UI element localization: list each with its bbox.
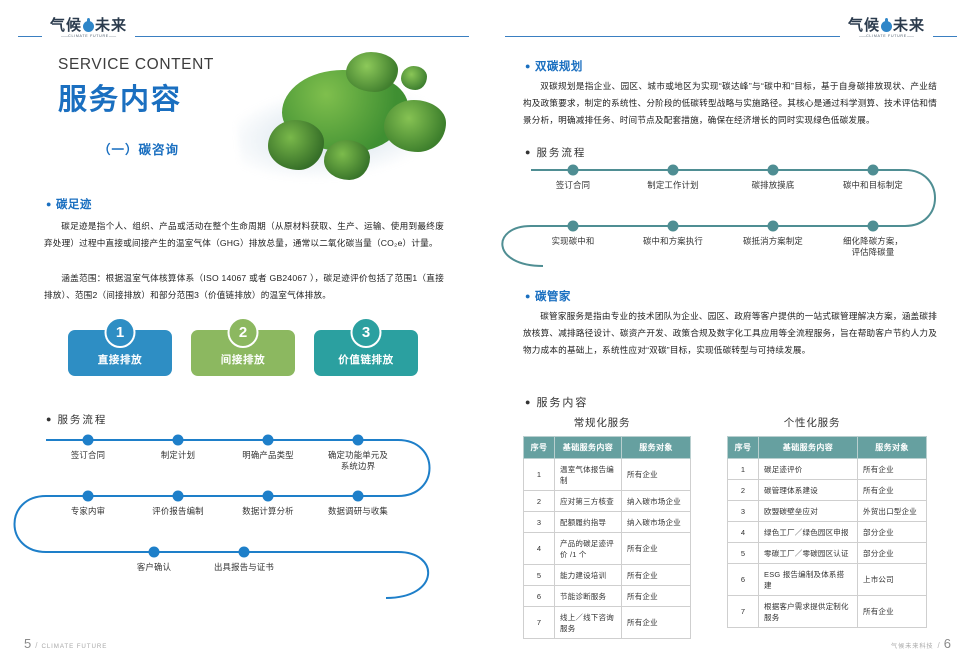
flow-step-label: 签订合同 — [528, 180, 618, 191]
table-cell-index: 2 — [524, 491, 555, 512]
paragraph-carbon-steward: 碳管家服务是指由专业的技术团队为企业、园区、政府等客户提供的一站式碳管理解决方案… — [523, 308, 937, 358]
table-cell-service: 节能诊断服务 — [555, 586, 622, 607]
scope-label: 价值链排放 — [338, 352, 394, 367]
brand-logo-right: 气候 未来 CLIMATE FUTURE — [840, 18, 933, 38]
table-cell-target: 外贸出口型企业 — [858, 501, 927, 522]
table-cell-target: 所有企业 — [622, 459, 691, 491]
flow-step-label: 客户确认 — [109, 562, 199, 573]
table-cell-index: 1 — [524, 459, 555, 491]
scope-box: 3 价值链排放 — [314, 330, 418, 376]
table-cell-target: 上市公司 — [858, 564, 927, 596]
table-row: 6节能诊断服务所有企业 — [524, 586, 691, 607]
flow-node — [173, 491, 184, 502]
table-cell-target: 所有企业 — [622, 607, 691, 639]
scope-number: 3 — [351, 317, 382, 348]
scope-number: 1 — [105, 317, 136, 348]
table-cell-index: 3 — [524, 512, 555, 533]
flow-step-label: 确定功能单元及 系统边界 — [313, 450, 403, 473]
flow-node — [353, 435, 364, 446]
flow-node — [263, 491, 274, 502]
footer-label: 气候未来科技 — [891, 641, 934, 650]
table-custom-service: 序号基础服务内容服务对象1碳足迹评价所有企业2碳管理体系建设所有企业3欧盟碳壁垒… — [727, 436, 927, 628]
table-row: 2碳管理体系建设所有企业 — [728, 480, 927, 501]
table-column-header: 基础服务内容 — [555, 437, 622, 459]
table-row: 5零碳工厂／零碳园区认证部分企业 — [728, 543, 927, 564]
brochure-spread: 气候 未来 CLIMATE FUTURE SERVICE CONTENT 服务内… — [0, 0, 975, 667]
table-row: 4产品的碳足迹评价 /1 个所有企业 — [524, 533, 691, 565]
scope-number: 2 — [228, 317, 259, 348]
table-cell-service: 配额履约指导 — [555, 512, 622, 533]
table-cell-index: 4 — [524, 533, 555, 565]
table-cell-target: 部分企业 — [858, 522, 927, 543]
scope-label: 直接排放 — [98, 352, 142, 367]
flow-node — [868, 165, 879, 176]
logo-text-first: 气候 — [50, 18, 82, 33]
table-cell-service: 能力建设培训 — [555, 565, 622, 586]
logo-text-second: 未来 — [893, 18, 925, 33]
table-cell-service: 根据客户需求提供定制化服务 — [759, 596, 858, 628]
service-flow-left: 签订合同制定计划明确产品类型确定功能单元及 系统边界专家内审评价报告编制数据计算… — [46, 428, 436, 628]
page-number: 6 — [944, 636, 951, 651]
table-row: 1温室气体报告编制所有企业 — [524, 459, 691, 491]
flow-node — [768, 165, 779, 176]
flow-step-label: 碳中和方案执行 — [628, 236, 718, 247]
flow-step-label: 实现碳中和 — [528, 236, 618, 247]
heading-carbon-footprint: 碳足迹 — [46, 196, 92, 212]
table-cell-index: 3 — [728, 501, 759, 522]
logo-wordmark: 气候 未来 — [848, 18, 925, 33]
scope-box-group: 1 直接排放 2 间接排放 3 价值链排放 — [68, 330, 418, 388]
table-row: 7根据客户需求提供定制化服务所有企业 — [728, 596, 927, 628]
flow-step-label: 数据调研与收集 — [313, 506, 403, 517]
table-column-header: 序号 — [524, 437, 555, 459]
footer-left: 5 / CLIMATE FUTURE — [24, 636, 107, 651]
footer-slash: / — [938, 641, 940, 650]
flow-step-label: 制定计划 — [133, 450, 223, 461]
flow-node — [173, 435, 184, 446]
page-title-en: SERVICE CONTENT — [58, 56, 214, 74]
section-label: （一）碳咨询 — [98, 139, 179, 158]
globe-icon — [83, 21, 94, 32]
table-cell-target: 所有企业 — [622, 533, 691, 565]
flow-step-label: 碳排放摸底 — [728, 180, 818, 191]
table-cell-target: 部分企业 — [858, 543, 927, 564]
scope-box: 2 间接排放 — [191, 330, 295, 376]
table-row: 4绿色工厂／绿色园区申报部分企业 — [728, 522, 927, 543]
paragraph-carbon-footprint-1: 碳足迹是指个人、组织、产品或活动在整个生命周期（从原材料获取、生产、运输、使用到… — [44, 218, 444, 252]
page-right: 气候 未来 CLIMATE FUTURE 双碳规划 双碳规划是指企业、园区、城市… — [487, 0, 975, 667]
table-column-header: 序号 — [728, 437, 759, 459]
table-cell-service: 应对第三方核查 — [555, 491, 622, 512]
flow-node — [768, 221, 779, 232]
table-cell-index: 5 — [728, 543, 759, 564]
service-flow-right: 签订合同制定工作计划碳排放摸底碳中和目标制定实现碳中和碳中和方案执行碳抵消方案制… — [523, 160, 923, 280]
table-cell-index: 6 — [728, 564, 759, 596]
page-title-cn: 服务内容 — [58, 76, 182, 118]
table-cell-target: 所有企业 — [858, 480, 927, 501]
table-cell-service: 线上／线下咨询服务 — [555, 607, 622, 639]
flow-step-label: 签订合同 — [43, 450, 133, 461]
flow-node — [83, 435, 94, 446]
table-title-custom: 个性化服务 — [784, 415, 841, 430]
table-title-standard: 常规化服务 — [574, 415, 631, 430]
flow-node — [149, 547, 160, 558]
flow-step-label: 专家内审 — [43, 506, 133, 517]
flow-step-label: 评价报告编制 — [133, 506, 223, 517]
flow-step-label: 碳中和目标制定 — [828, 180, 918, 191]
table-row: 3欧盟碳壁垒应对外贸出口型企业 — [728, 501, 927, 522]
table-cell-index: 5 — [524, 565, 555, 586]
logo-text-second: 未来 — [95, 18, 127, 33]
table-row: 2应对第三方核查纳入碳市场企业 — [524, 491, 691, 512]
paragraph-dual-carbon: 双碳规划是指企业、园区、城市或地区为实现“碳达峰”与“碳中和”目标，基于自身碳排… — [523, 78, 937, 128]
table-cell-target: 所有企业 — [622, 586, 691, 607]
flow-node — [568, 221, 579, 232]
heading-carbon-steward: 碳管家 — [525, 288, 571, 304]
foliage-blob — [268, 120, 324, 170]
footer-slash: / — [35, 641, 37, 650]
table-standard-service: 序号基础服务内容服务对象1温室气体报告编制所有企业2应对第三方核查纳入碳市场企业… — [523, 436, 691, 639]
table-row: 7线上／线下咨询服务所有企业 — [524, 607, 691, 639]
paragraph-carbon-footprint-2: 涵盖范围：根据温室气体核算体系（ISO 14067 或者 GB24067 ），碳… — [44, 270, 444, 304]
logo-wordmark: 气候 未来 — [50, 18, 127, 33]
table-cell-target: 所有企业 — [858, 459, 927, 480]
foliage-blob — [346, 52, 398, 92]
flow-step-label: 出具报告与证书 — [199, 562, 289, 573]
flow-step-label: 数据计算分析 — [223, 506, 313, 517]
page-left: 气候 未来 CLIMATE FUTURE SERVICE CONTENT 服务内… — [0, 0, 487, 667]
table-cell-target: 所有企业 — [622, 565, 691, 586]
logo-text-first: 气候 — [848, 18, 880, 33]
table-cell-index: 7 — [524, 607, 555, 639]
logo-subtext: CLIMATE FUTURE — [859, 34, 914, 38]
flow-step-label: 制定工作计划 — [628, 180, 718, 191]
flow-node — [868, 221, 879, 232]
table-cell-service: 零碳工厂／零碳园区认证 — [759, 543, 858, 564]
table-cell-target: 纳入碳市场企业 — [622, 512, 691, 533]
table-cell-service: 绿色工厂／绿色园区申报 — [759, 522, 858, 543]
flow-step-label: 细化降碳方案， 评估降碳量 — [828, 236, 918, 259]
brand-logo-left: 气候 未来 CLIMATE FUTURE — [42, 18, 135, 38]
table-cell-target: 所有企业 — [858, 596, 927, 628]
heading-dual-carbon: 双碳规划 — [525, 58, 583, 74]
scope-label: 间接排放 — [221, 352, 265, 367]
table-row: 3配额履约指导纳入碳市场企业 — [524, 512, 691, 533]
table-cell-service: 碳管理体系建设 — [759, 480, 858, 501]
logo-subtext: CLIMATE FUTURE — [61, 34, 116, 38]
foliage-blob — [401, 66, 427, 90]
table-column-header: 服务对象 — [622, 437, 691, 459]
foliage-blob — [324, 140, 370, 180]
table-cell-index: 6 — [524, 586, 555, 607]
globe-icon — [881, 21, 892, 32]
scope-box: 1 直接排放 — [68, 330, 172, 376]
footer-label: CLIMATE FUTURE — [41, 643, 107, 650]
heading-service-flow-right: 服务流程 — [525, 145, 586, 160]
table-row: 6ESG 报告编制及体系搭建上市公司 — [728, 564, 927, 596]
table-cell-service: 碳足迹评价 — [759, 459, 858, 480]
flow-node — [568, 165, 579, 176]
table-cell-index: 2 — [728, 480, 759, 501]
table-cell-target: 纳入碳市场企业 — [622, 491, 691, 512]
table-cell-service: ESG 报告编制及体系搭建 — [759, 564, 858, 596]
table-cell-service: 产品的碳足迹评价 /1 个 — [555, 533, 622, 565]
table-row: 1碳足迹评价所有企业 — [728, 459, 927, 480]
table-cell-index: 4 — [728, 522, 759, 543]
foliage-blob — [384, 100, 446, 152]
table-row: 5能力建设培训所有企业 — [524, 565, 691, 586]
flow-node — [83, 491, 94, 502]
table-column-header: 基础服务内容 — [759, 437, 858, 459]
table-column-header: 服务对象 — [858, 437, 927, 459]
table-cell-index: 1 — [728, 459, 759, 480]
flow-node — [353, 491, 364, 502]
flow-step-label: 碳抵消方案制定 — [728, 236, 818, 247]
table-cell-index: 7 — [728, 596, 759, 628]
flow-node — [239, 547, 250, 558]
page-number: 5 — [24, 636, 31, 651]
flow-node — [668, 221, 679, 232]
heading-service-flow-left: 服务流程 — [46, 412, 107, 427]
flow-step-label: 明确产品类型 — [223, 450, 313, 461]
table-cell-service: 温室气体报告编制 — [555, 459, 622, 491]
heading-service-content: 服务内容 — [525, 394, 588, 410]
flow-node — [668, 165, 679, 176]
table-cell-service: 欧盟碳壁垒应对 — [759, 501, 858, 522]
tree-illustration — [238, 48, 458, 188]
flow-node — [263, 435, 274, 446]
footer-right: 气候未来科技 / 6 — [891, 636, 951, 651]
